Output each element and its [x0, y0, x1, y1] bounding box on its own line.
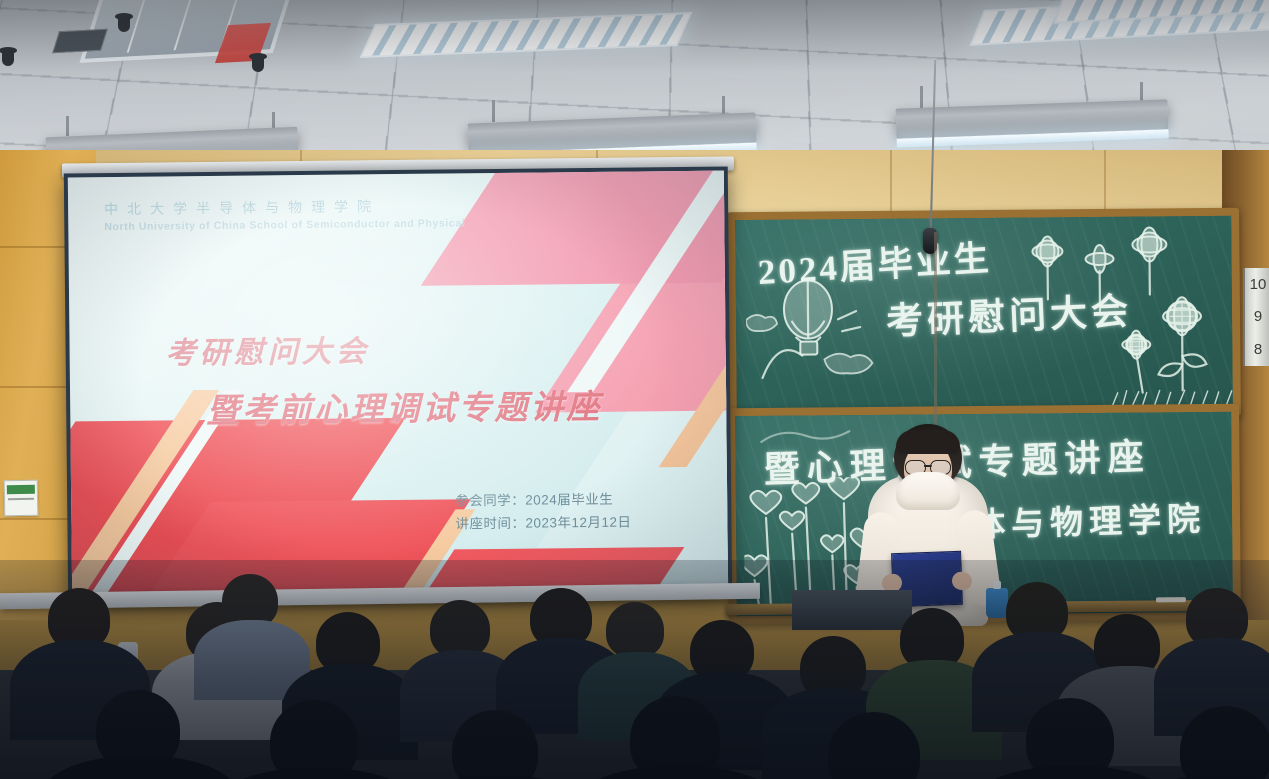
wall-notice-sticker: [4, 480, 39, 517]
room-number-digit: 10: [1250, 276, 1267, 293]
speaker-collar: [896, 472, 960, 510]
pendant-stem: [492, 100, 495, 122]
blackboard-bottom-line2: 体与物理学院: [971, 492, 1206, 546]
classroom-lecture-photo: 10 9 8: [0, 0, 1269, 779]
audience-shading: [0, 560, 1269, 779]
blackboard-top: 2024届毕业生 考研慰问大会: [727, 208, 1241, 420]
room-number-digit: 8: [1254, 341, 1262, 358]
audience-seating: [0, 560, 1269, 779]
room-number-plate: 10 9 8: [1243, 268, 1269, 366]
presentation-slide: 中北大学半导体与物理学院 North University of China S…: [68, 171, 728, 602]
room-number-digit: 9: [1254, 308, 1262, 325]
pendant-stem: [920, 86, 923, 108]
slide-vignette: [68, 171, 728, 602]
blackboard-top-line2: 考研慰问大会: [885, 280, 1133, 345]
pendant-stem: [66, 116, 69, 136]
blackboard-top-surface: 2024届毕业生 考研慰问大会: [735, 216, 1233, 412]
projection-screen: 中北大学半导体与物理学院 North University of China S…: [64, 167, 732, 606]
speaker-hair-fringe: [896, 430, 960, 454]
